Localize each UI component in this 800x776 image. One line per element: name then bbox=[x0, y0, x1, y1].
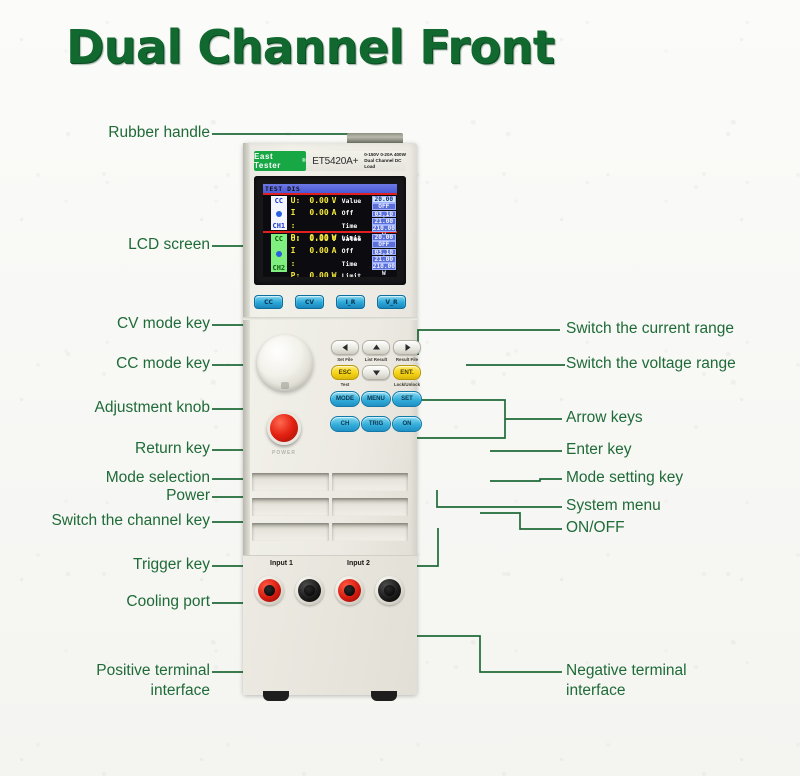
arrow-right-icon bbox=[403, 343, 412, 352]
field-value: 03.10 A bbox=[372, 249, 396, 256]
brand-name: East Tester bbox=[254, 152, 301, 170]
field-value: OFF bbox=[372, 241, 396, 248]
annotation-on-off: ON/OFF bbox=[566, 519, 625, 537]
lcd-bezel: TEST DIS CC CH1 U:0.00V I :0.00A P:0.00W… bbox=[254, 176, 406, 285]
annotation-positive-terminal-line1: Positive terminal bbox=[12, 662, 210, 680]
lcd-screen[interactable]: TEST DIS CC CH1 U:0.00V I :0.00A P:0.00W… bbox=[263, 184, 397, 277]
annotation-mode-selection: Mode selection bbox=[12, 469, 210, 487]
panel-divider bbox=[243, 317, 417, 320]
channel-button[interactable]: CH bbox=[330, 416, 360, 432]
annotation-arrow-keys: Arrow keys bbox=[566, 409, 643, 427]
annotation-power: Power bbox=[12, 487, 210, 505]
measure-label: I : bbox=[291, 207, 303, 232]
arrow-up-icon bbox=[372, 343, 381, 352]
field-value: 21.00 V bbox=[372, 256, 396, 263]
page-title: Dual Channel Front bbox=[66, 20, 554, 74]
annotation-enter-key: Enter key bbox=[566, 441, 631, 459]
power-button[interactable] bbox=[267, 411, 301, 445]
field-value: OFF bbox=[372, 203, 396, 210]
arrow-right-button[interactable] bbox=[393, 340, 421, 355]
model-number: ET5420A+ bbox=[312, 156, 358, 167]
input2-label: Input 2 bbox=[347, 560, 370, 567]
annotation-system-menu: System menu bbox=[566, 497, 661, 515]
measure-unit: V bbox=[329, 233, 337, 245]
annotation-mode-setting-key: Mode setting key bbox=[566, 469, 683, 487]
measure-label: U: bbox=[291, 195, 303, 207]
annotation-adjustment-knob: Adjustment knob bbox=[12, 399, 210, 417]
brand-bar: East Tester® ET5420A+ 0-150V 0-20A 400W … bbox=[254, 151, 406, 171]
measure-value: 0.00 bbox=[303, 245, 329, 270]
annotation-negative-terminal-line1: Negative terminal bbox=[566, 662, 687, 680]
measure-value: 0.00 bbox=[303, 233, 329, 245]
measure-unit: A bbox=[329, 207, 337, 232]
vent-row bbox=[252, 523, 408, 541]
measure-unit: W bbox=[329, 270, 337, 277]
on-off-button[interactable]: ON bbox=[392, 416, 422, 432]
esc-sublabel: Test bbox=[325, 382, 365, 387]
device-foot bbox=[263, 691, 289, 701]
arrow-right-sublabel: Result File bbox=[387, 357, 427, 362]
channel-field-names: Value Off Time Limit bbox=[341, 195, 372, 231]
arrow-left-icon bbox=[341, 343, 350, 352]
vent-slot bbox=[332, 498, 409, 516]
enter-button[interactable]: ENT. bbox=[393, 365, 421, 380]
vent-slot bbox=[332, 523, 409, 541]
measure-value: 0.00 bbox=[303, 207, 329, 232]
channel-tag: CC CH1 bbox=[271, 196, 287, 230]
power-label: POWER bbox=[260, 450, 308, 456]
channel-field-names: Value Off Time Limit bbox=[341, 233, 372, 273]
channel-name: CH1 bbox=[272, 222, 285, 230]
measure-unit: A bbox=[329, 245, 337, 270]
vent-slot bbox=[252, 523, 329, 541]
channel-field-values: 20.00 A OFF 03.10 A 21.00 V 210.00 W bbox=[372, 195, 397, 231]
field-value: 20.00 A bbox=[372, 234, 396, 241]
input1-positive-terminal[interactable] bbox=[255, 576, 284, 605]
enter-sublabel: Lock/Unlock bbox=[387, 382, 427, 387]
channel-measurements: U:0.00V I :0.00A P:0.00W bbox=[289, 233, 341, 273]
channel-field-values: 20.00 A OFF 03.10 A 21.00 V 210.00 W bbox=[372, 233, 397, 273]
annotation-rubber-handle: Rubber handle bbox=[12, 124, 210, 142]
field-value: 20.00 A bbox=[372, 196, 396, 203]
field-value: 21.00 V bbox=[372, 218, 396, 225]
annotation-cooling-port: Cooling port bbox=[12, 593, 210, 611]
annotation-trigger-key: Trigger key bbox=[12, 556, 210, 574]
field-value: 210.00 W bbox=[372, 225, 396, 232]
annotation-cv-mode-key: CV mode key bbox=[12, 315, 210, 333]
field-name: Off Time bbox=[342, 207, 372, 232]
vent-row bbox=[252, 498, 408, 516]
rubber-handle[interactable] bbox=[347, 133, 403, 143]
vent-row bbox=[252, 473, 408, 491]
vent-slot bbox=[332, 473, 409, 491]
arrow-left-button[interactable] bbox=[331, 340, 359, 355]
vent-slot bbox=[252, 498, 329, 516]
input2-negative-terminal[interactable] bbox=[375, 576, 404, 605]
adjustment-knob[interactable] bbox=[257, 335, 313, 391]
spec-line-2: Dual Channel DC Load bbox=[364, 158, 406, 169]
esc-button[interactable]: ESC bbox=[331, 365, 359, 380]
measure-unit: V bbox=[329, 195, 337, 207]
annotation-lcd-screen: LCD screen bbox=[12, 236, 210, 254]
channel-name: CH2 bbox=[272, 264, 285, 272]
annotation-return-key: Return key bbox=[12, 440, 210, 458]
function-key-row: CC CV I_R V_R bbox=[254, 295, 406, 309]
arrow-down-icon bbox=[372, 368, 381, 377]
cooling-port bbox=[252, 473, 408, 548]
channel-measurements: U:0.00V I :0.00A P:0.00W bbox=[289, 195, 341, 231]
annotation-switch-current-range: Switch the current range bbox=[566, 320, 734, 338]
field-value: 03.10 A bbox=[372, 211, 396, 218]
field-name: Limit bbox=[342, 270, 372, 277]
channel-status-dot-icon bbox=[276, 211, 282, 217]
measure-label: I : bbox=[291, 245, 303, 270]
brand-logo: East Tester® bbox=[254, 151, 306, 171]
arrow-up-button[interactable] bbox=[362, 340, 390, 355]
voltage-range-button[interactable]: V_R bbox=[377, 295, 406, 309]
input2-positive-terminal[interactable] bbox=[335, 576, 364, 605]
field-name: Value bbox=[342, 195, 372, 207]
cc-mode-button[interactable]: CC bbox=[254, 295, 283, 309]
current-range-button[interactable]: I_R bbox=[336, 295, 365, 309]
registered-icon: ® bbox=[302, 158, 306, 164]
trigger-button[interactable]: TRIG bbox=[361, 416, 391, 432]
channel-mode: CC bbox=[275, 197, 283, 205]
channel-mode: CC bbox=[275, 235, 283, 243]
field-name: Off Time bbox=[342, 245, 372, 270]
device-foot bbox=[371, 691, 397, 701]
input1-negative-terminal[interactable] bbox=[295, 576, 324, 605]
set-button[interactable]: SET bbox=[392, 391, 422, 407]
annotation-negative-terminal-line2: interface bbox=[566, 682, 625, 700]
lcd-channel-row: CC CH1 U:0.00V I :0.00A P:0.00W Value Of… bbox=[263, 193, 397, 233]
channel-tag: CC CH2 bbox=[271, 234, 287, 272]
measure-value: 0.00 bbox=[303, 195, 329, 207]
cv-mode-button[interactable]: CV bbox=[295, 295, 324, 309]
annotation-cc-mode-key: CC mode key bbox=[12, 355, 210, 373]
annotation-switch-voltage-range: Switch the voltage range bbox=[566, 355, 736, 373]
annotation-switch-channel-key: Switch the channel key bbox=[0, 512, 210, 530]
annotation-positive-terminal-line2: interface bbox=[12, 682, 210, 700]
field-value: 210.00 W bbox=[372, 263, 396, 270]
vent-slot bbox=[252, 473, 329, 491]
menu-button[interactable]: MENU bbox=[361, 391, 391, 407]
field-name: Value bbox=[342, 233, 372, 245]
dc-load-device: East Tester® ET5420A+ 0-150V 0-20A 400W … bbox=[243, 143, 417, 695]
measure-value: 0.00 bbox=[303, 270, 329, 277]
measure-label: P: bbox=[291, 270, 303, 277]
terminal-area: Input 1 Input 2 bbox=[243, 555, 417, 695]
channel-status-dot-icon bbox=[276, 251, 282, 257]
arrow-down-button[interactable] bbox=[362, 365, 390, 380]
lcd-titlebar: TEST DIS bbox=[263, 184, 397, 193]
mode-button[interactable]: MODE bbox=[330, 391, 360, 407]
measure-label: U: bbox=[291, 233, 303, 245]
spec-text: 0-150V 0-20A 400W Dual Channel DC Load bbox=[364, 152, 406, 169]
input1-label: Input 1 bbox=[270, 560, 293, 567]
lcd-channel-row: CC CH2 U:0.00V I :0.00A P:0.00W Value Of… bbox=[263, 233, 397, 273]
